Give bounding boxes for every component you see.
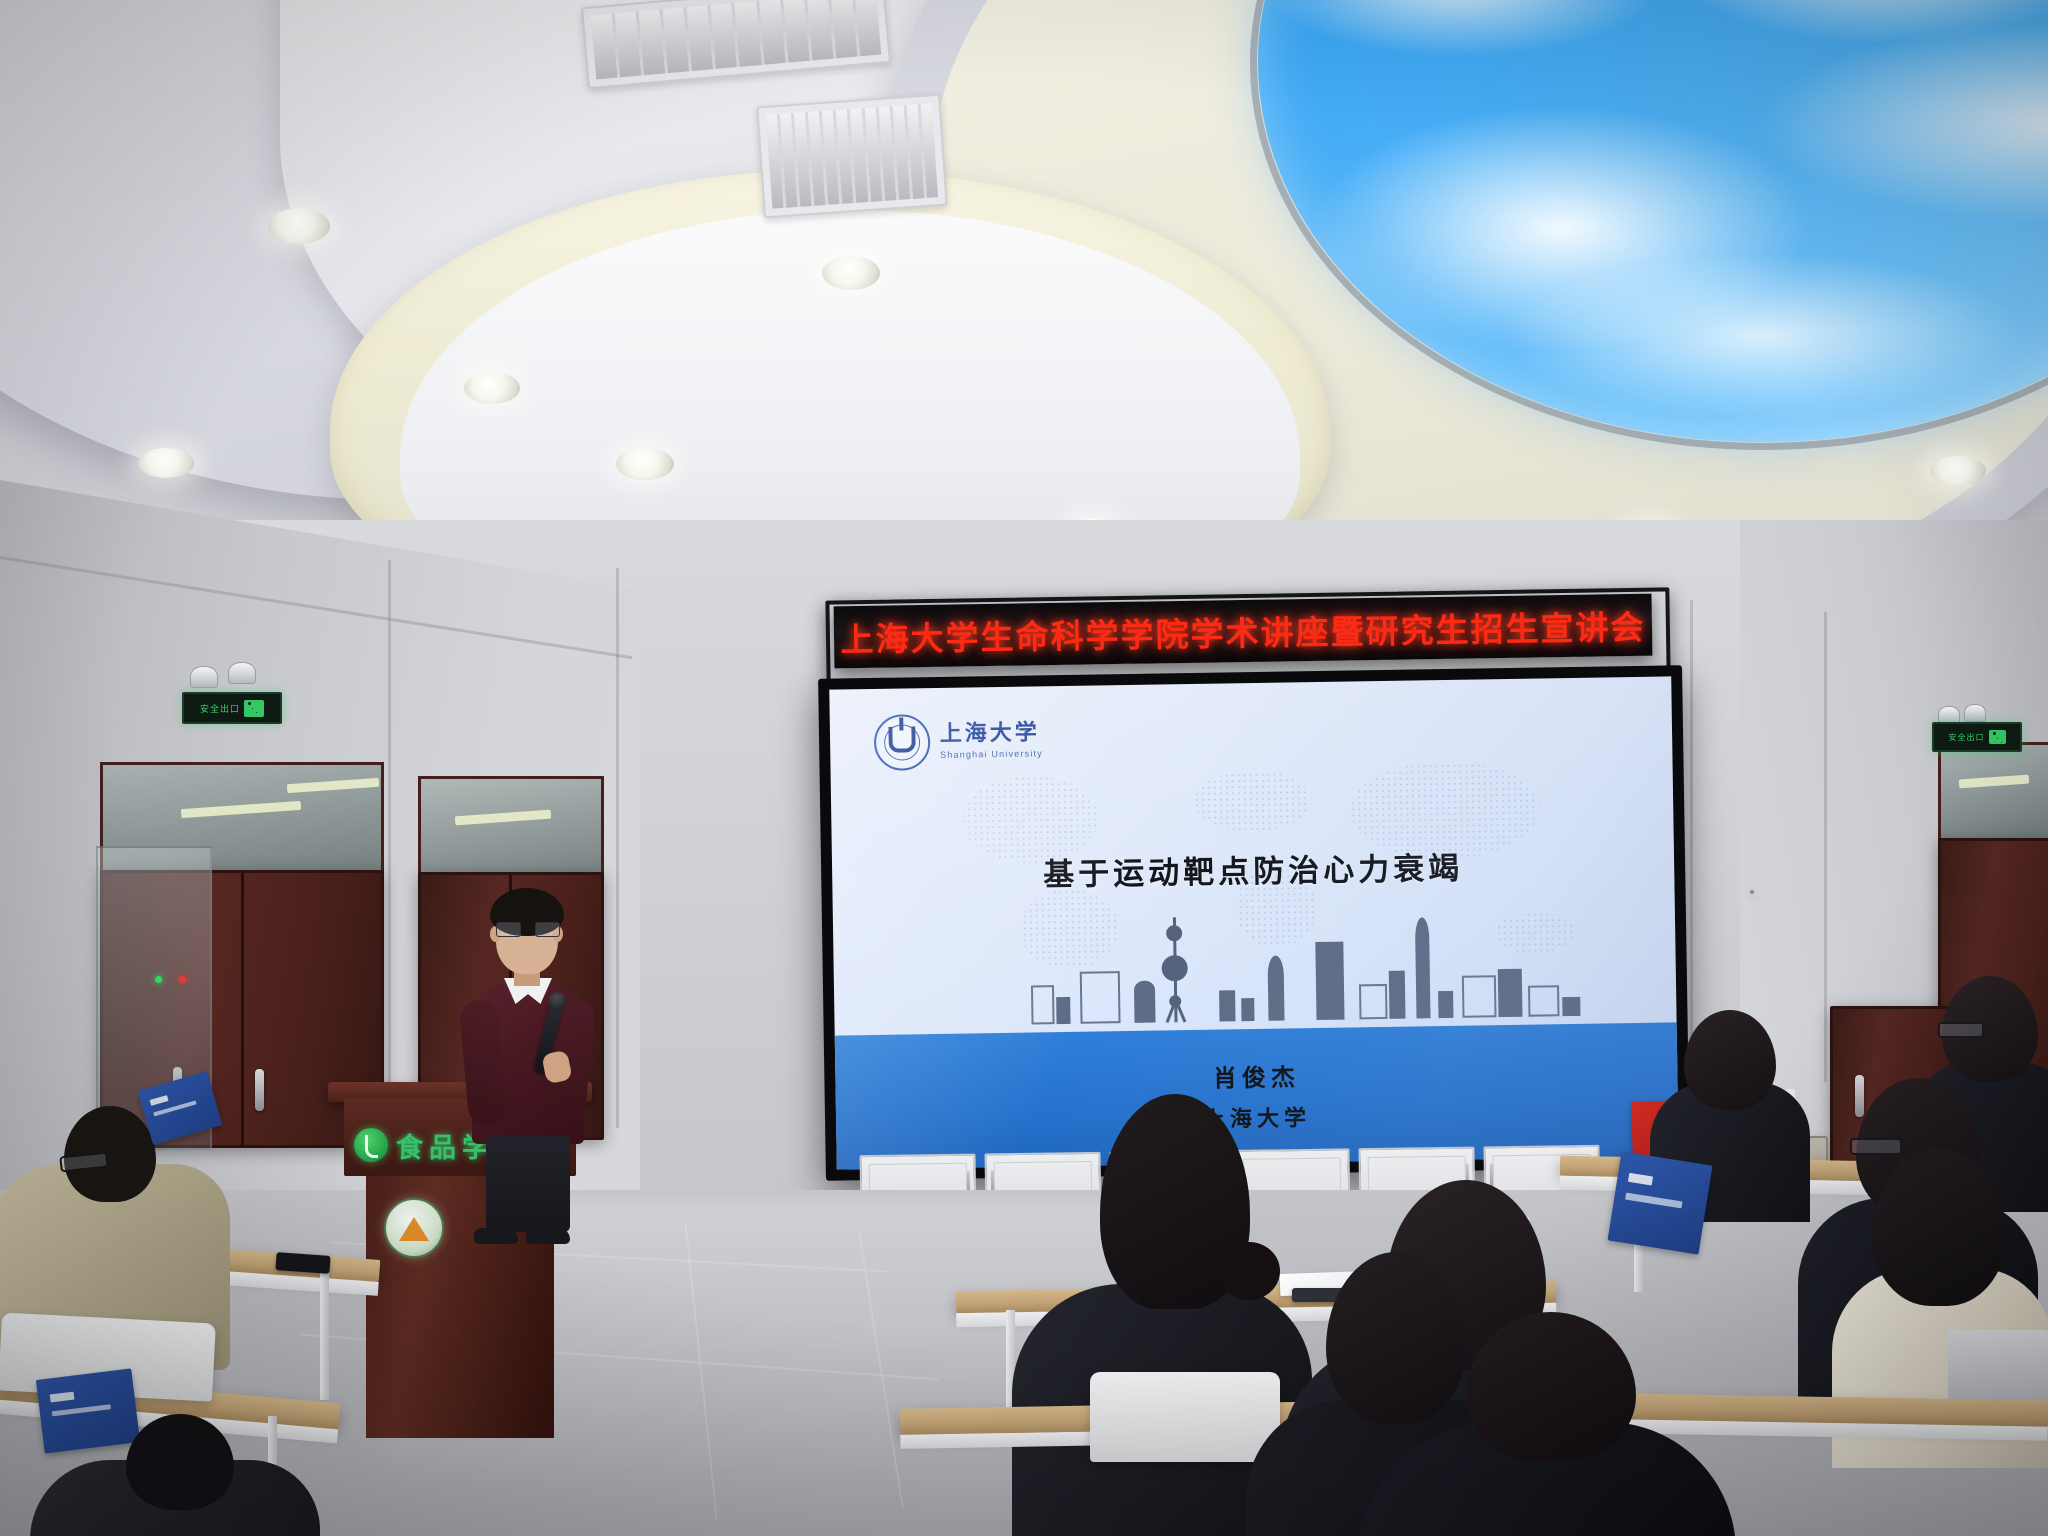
shanghai-skyline-graphic — [1018, 910, 1626, 1025]
door-transom-window — [418, 776, 604, 878]
audience-head — [126, 1414, 234, 1510]
audience-head — [1872, 1148, 2006, 1306]
led-banner-text: 上海大学生命科学学院学术讲座暨研究生招生宣讲会 — [840, 601, 1646, 662]
emergency-lamp — [190, 666, 218, 688]
exit-sign-left: 安全出口 — [182, 692, 282, 724]
glasses-icon — [1938, 1022, 1984, 1038]
audience-left-2 — [30, 1420, 330, 1536]
audience-head — [1466, 1312, 1636, 1462]
air-vent-icon — [756, 94, 947, 219]
laptop[interactable] — [1948, 1330, 2048, 1400]
exit-sign-label-right: 安全出口 — [1949, 732, 1985, 743]
speaker-name: 肖俊杰 — [1213, 1058, 1301, 1094]
phone-on-desk[interactable] — [275, 1252, 330, 1274]
blue-folder-right[interactable] — [1608, 1151, 1713, 1254]
food-college-leaf-logo-icon — [354, 1128, 388, 1162]
desk-leg — [320, 1270, 329, 1400]
door-transom-window-right — [1938, 742, 2048, 844]
shanghai-university-seal-icon — [873, 714, 930, 771]
wall-seam — [388, 560, 391, 1120]
audience-head — [1684, 1010, 1776, 1110]
wall-speaker-box — [1750, 890, 1754, 894]
downlight — [268, 208, 330, 244]
emergency-lamp — [228, 662, 256, 684]
downlight — [1930, 456, 1986, 486]
emergency-lamp — [1964, 704, 1986, 722]
lecture-hall-photo: 安全出口 安全出口 上海大学生命科学学院学术讲座暨研究生招生宣讲会 上海大学 S… — [0, 0, 2048, 1536]
exit-sign-label-left: 安全出口 — [200, 702, 240, 715]
seal-u-glyph — [888, 726, 915, 752]
downlight — [822, 256, 880, 290]
university-round-emblem-icon — [384, 1198, 444, 1258]
running-person-icon — [244, 700, 264, 717]
speaker-at-podium — [452, 880, 602, 1210]
led-banner: 上海大学生命科学学院学术讲座暨研究生招生宣讲会 — [834, 594, 1653, 669]
logo-text-en: Shanghai University — [940, 748, 1043, 760]
status-led-green-icon — [155, 976, 162, 983]
logo-text-cn: 上海大学 — [940, 722, 1043, 746]
jinmao-tower-icon — [1267, 956, 1284, 1022]
shanghai-tower-icon — [1415, 917, 1430, 1019]
swfc-tower-icon — [1316, 942, 1345, 1021]
glasses-icon — [496, 922, 558, 935]
downlight — [138, 448, 194, 478]
presenter-shoe — [474, 1228, 518, 1244]
exit-sign-right: 安全出口 — [1932, 722, 2022, 752]
status-led-red-icon — [179, 976, 186, 983]
running-person-icon — [1989, 730, 2006, 744]
presenter-shoe — [526, 1228, 570, 1244]
shanghai-university-logo: 上海大学 Shanghai University — [873, 712, 1043, 771]
downlight — [616, 448, 674, 480]
oriental-pearl-tower-icon — [1173, 917, 1178, 1023]
wall-seam — [616, 568, 619, 1128]
downlight — [464, 372, 520, 404]
presenter-trousers — [486, 1136, 570, 1232]
wall-seam — [1824, 612, 1827, 1082]
audience-right-5 — [1356, 1312, 1736, 1536]
